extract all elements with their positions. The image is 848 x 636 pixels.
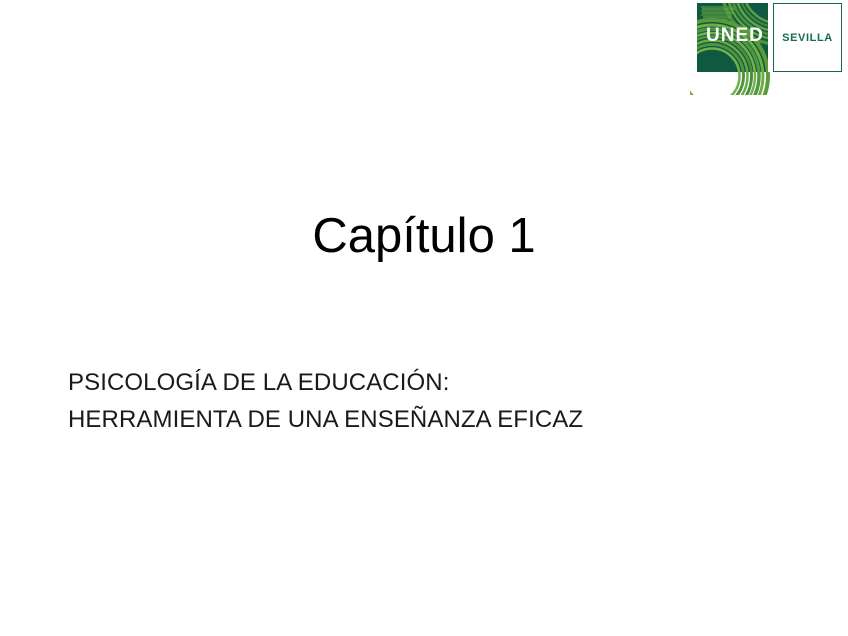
sevilla-campus-box: SEVILLA <box>773 3 842 72</box>
subtitle-line-2: HERRAMIENTA DE UNA ENSEÑANZA EFICAZ <box>68 401 768 438</box>
sevilla-campus-label: SEVILLA <box>782 32 833 44</box>
slide-subtitle: PSICOLOGÍA DE LA EDUCACIÓN: HERRAMIENTA … <box>68 364 768 438</box>
uned-wordmark-text: UNED <box>706 26 762 46</box>
slide-title: Capítulo 1 <box>0 207 848 265</box>
presentation-slide: UNED SEVILLA Capítulo 1 PSICOLOGÍA DE LA… <box>0 0 848 636</box>
uned-logo-mark: UNED <box>697 3 768 72</box>
uned-sevilla-logo: UNED SEVILLA <box>690 0 848 95</box>
subtitle-line-1: PSICOLOGÍA DE LA EDUCACIÓN: <box>68 364 768 401</box>
